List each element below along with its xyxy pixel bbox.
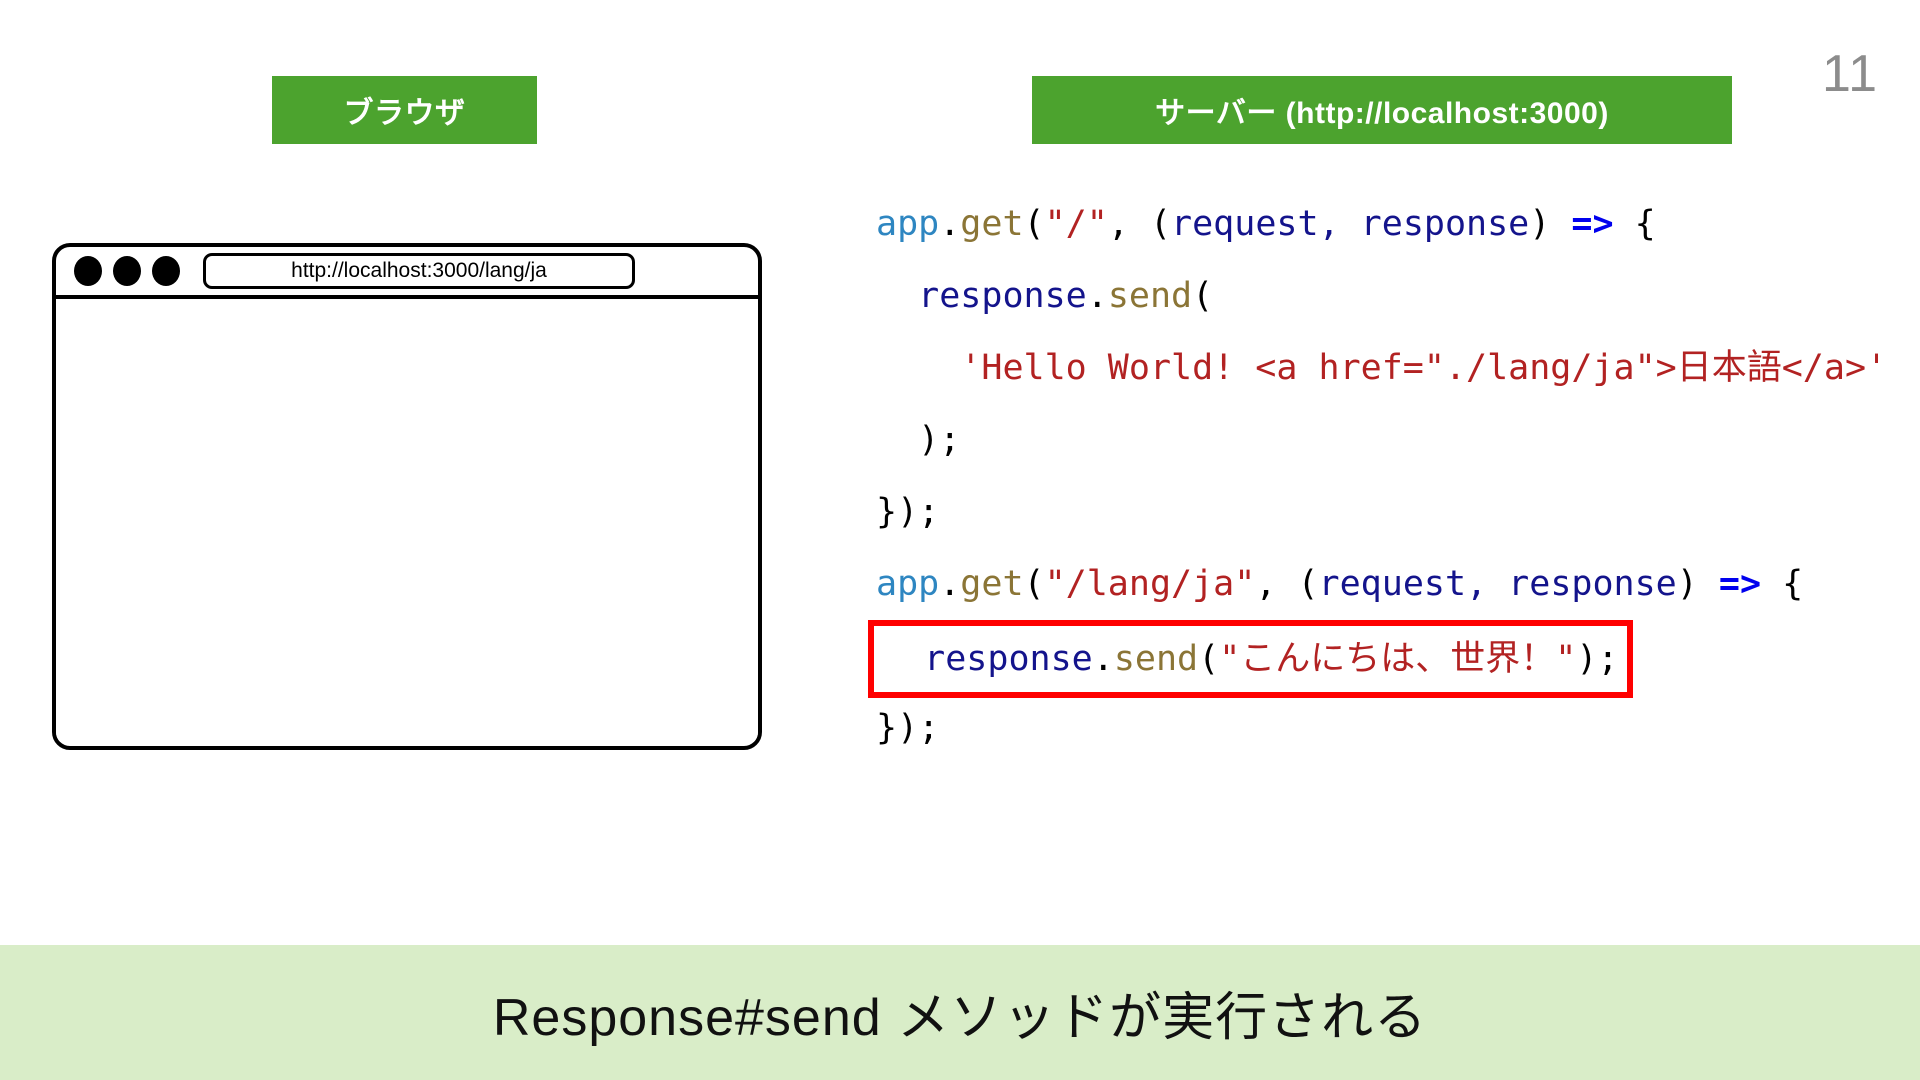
browser-page-viewport <box>56 299 758 742</box>
caption-band: Response#send メソッドが実行される <box>0 945 1920 1080</box>
page-number: 11 <box>1822 48 1878 100</box>
code-token-param: response <box>918 276 1087 316</box>
code-line: ); <box>876 404 1887 476</box>
code-token-punct: ( <box>1024 204 1045 244</box>
code-token-arrow: => <box>1719 564 1761 604</box>
code-token-punct: . <box>1093 639 1114 679</box>
browser-column-header: ブラウザ <box>272 76 537 144</box>
browser-window-mockup: http://localhost:3000/lang/ja <box>52 243 762 750</box>
code-token-punct: ( <box>1198 639 1219 679</box>
code-token-method: get <box>960 564 1023 604</box>
code-token-arrow: => <box>1571 204 1613 244</box>
code-line: app.get("/", (request, response) => { <box>876 188 1887 260</box>
code-token-punct: { <box>1614 204 1656 244</box>
code-line: response.send("こんにちは、世界！"); <box>876 620 1887 692</box>
code-line-content: response.send( <box>876 276 1213 316</box>
code-line: }); <box>876 476 1887 548</box>
code-token-method: send <box>1114 639 1198 679</box>
traffic-light-minimize-icon[interactable] <box>113 256 141 286</box>
code-indent <box>876 276 918 316</box>
code-token-string: 'Hello World! <a href="./lang/ja">日本語</a… <box>960 348 1887 388</box>
traffic-light-close-icon[interactable] <box>74 256 102 286</box>
code-token-punct: . <box>939 564 960 604</box>
code-line-content: }); <box>876 708 939 748</box>
code-line-content: ); <box>876 420 960 460</box>
code-token-obj: app <box>876 564 939 604</box>
code-token-punct: ); <box>1576 639 1618 679</box>
server-column-header-label: サーバー (http://localhost:3000) <box>1155 88 1609 132</box>
code-token-obj: app <box>876 204 939 244</box>
code-line-content: }); <box>876 492 939 532</box>
highlighted-code-line: response.send("こんにちは、世界！"); <box>868 620 1633 698</box>
code-token-param: request, response <box>1171 204 1529 244</box>
code-token-string: "/lang/ja" <box>1045 564 1256 604</box>
code-token-method: get <box>960 204 1023 244</box>
code-line-content: app.get("/lang/ja", (request, response) … <box>876 564 1803 604</box>
code-token-string: "こんにちは、世界！" <box>1219 639 1576 679</box>
code-line-content: app.get("/", (request, response) => { <box>876 204 1656 244</box>
traffic-light-maximize-icon[interactable] <box>152 256 180 286</box>
code-token-param: request, response <box>1319 564 1677 604</box>
code-token-punct: ); <box>918 420 960 460</box>
code-indent <box>882 639 924 679</box>
code-token-punct: . <box>1087 276 1108 316</box>
code-token-method: send <box>1108 276 1192 316</box>
code-line: }); <box>876 692 1887 764</box>
code-token-param: response <box>924 639 1093 679</box>
code-token-punct: }); <box>876 708 939 748</box>
server-code-listing: app.get("/", (request, response) => { re… <box>876 188 1887 764</box>
code-token-punct: . <box>939 204 960 244</box>
code-token-punct: ( <box>1024 564 1045 604</box>
code-token-punct: , ( <box>1108 204 1171 244</box>
code-token-punct: ( <box>1192 276 1213 316</box>
code-token-punct: { <box>1761 564 1803 604</box>
code-line-content: 'Hello World! <a href="./lang/ja">日本語</a… <box>876 348 1887 388</box>
code-line: response.send( <box>876 260 1887 332</box>
address-bar[interactable]: http://localhost:3000/lang/ja <box>203 253 635 289</box>
code-token-punct: ) <box>1677 564 1719 604</box>
browser-chrome-bar: http://localhost:3000/lang/ja <box>56 247 758 299</box>
code-indent <box>876 420 918 460</box>
code-token-punct: }); <box>876 492 939 532</box>
server-column-header: サーバー (http://localhost:3000) <box>1032 76 1732 144</box>
code-indent <box>876 348 960 388</box>
caption-text: Response#send メソッドが実行される <box>493 975 1427 1050</box>
code-line: app.get("/lang/ja", (request, response) … <box>876 548 1887 620</box>
browser-column-header-label: ブラウザ <box>344 88 466 132</box>
address-bar-url-text: http://localhost:3000/lang/ja <box>291 259 547 283</box>
code-token-punct: , ( <box>1255 564 1318 604</box>
code-token-string: "/" <box>1045 204 1108 244</box>
code-token-punct: ) <box>1529 204 1571 244</box>
code-line: 'Hello World! <a href="./lang/ja">日本語</a… <box>876 332 1887 404</box>
